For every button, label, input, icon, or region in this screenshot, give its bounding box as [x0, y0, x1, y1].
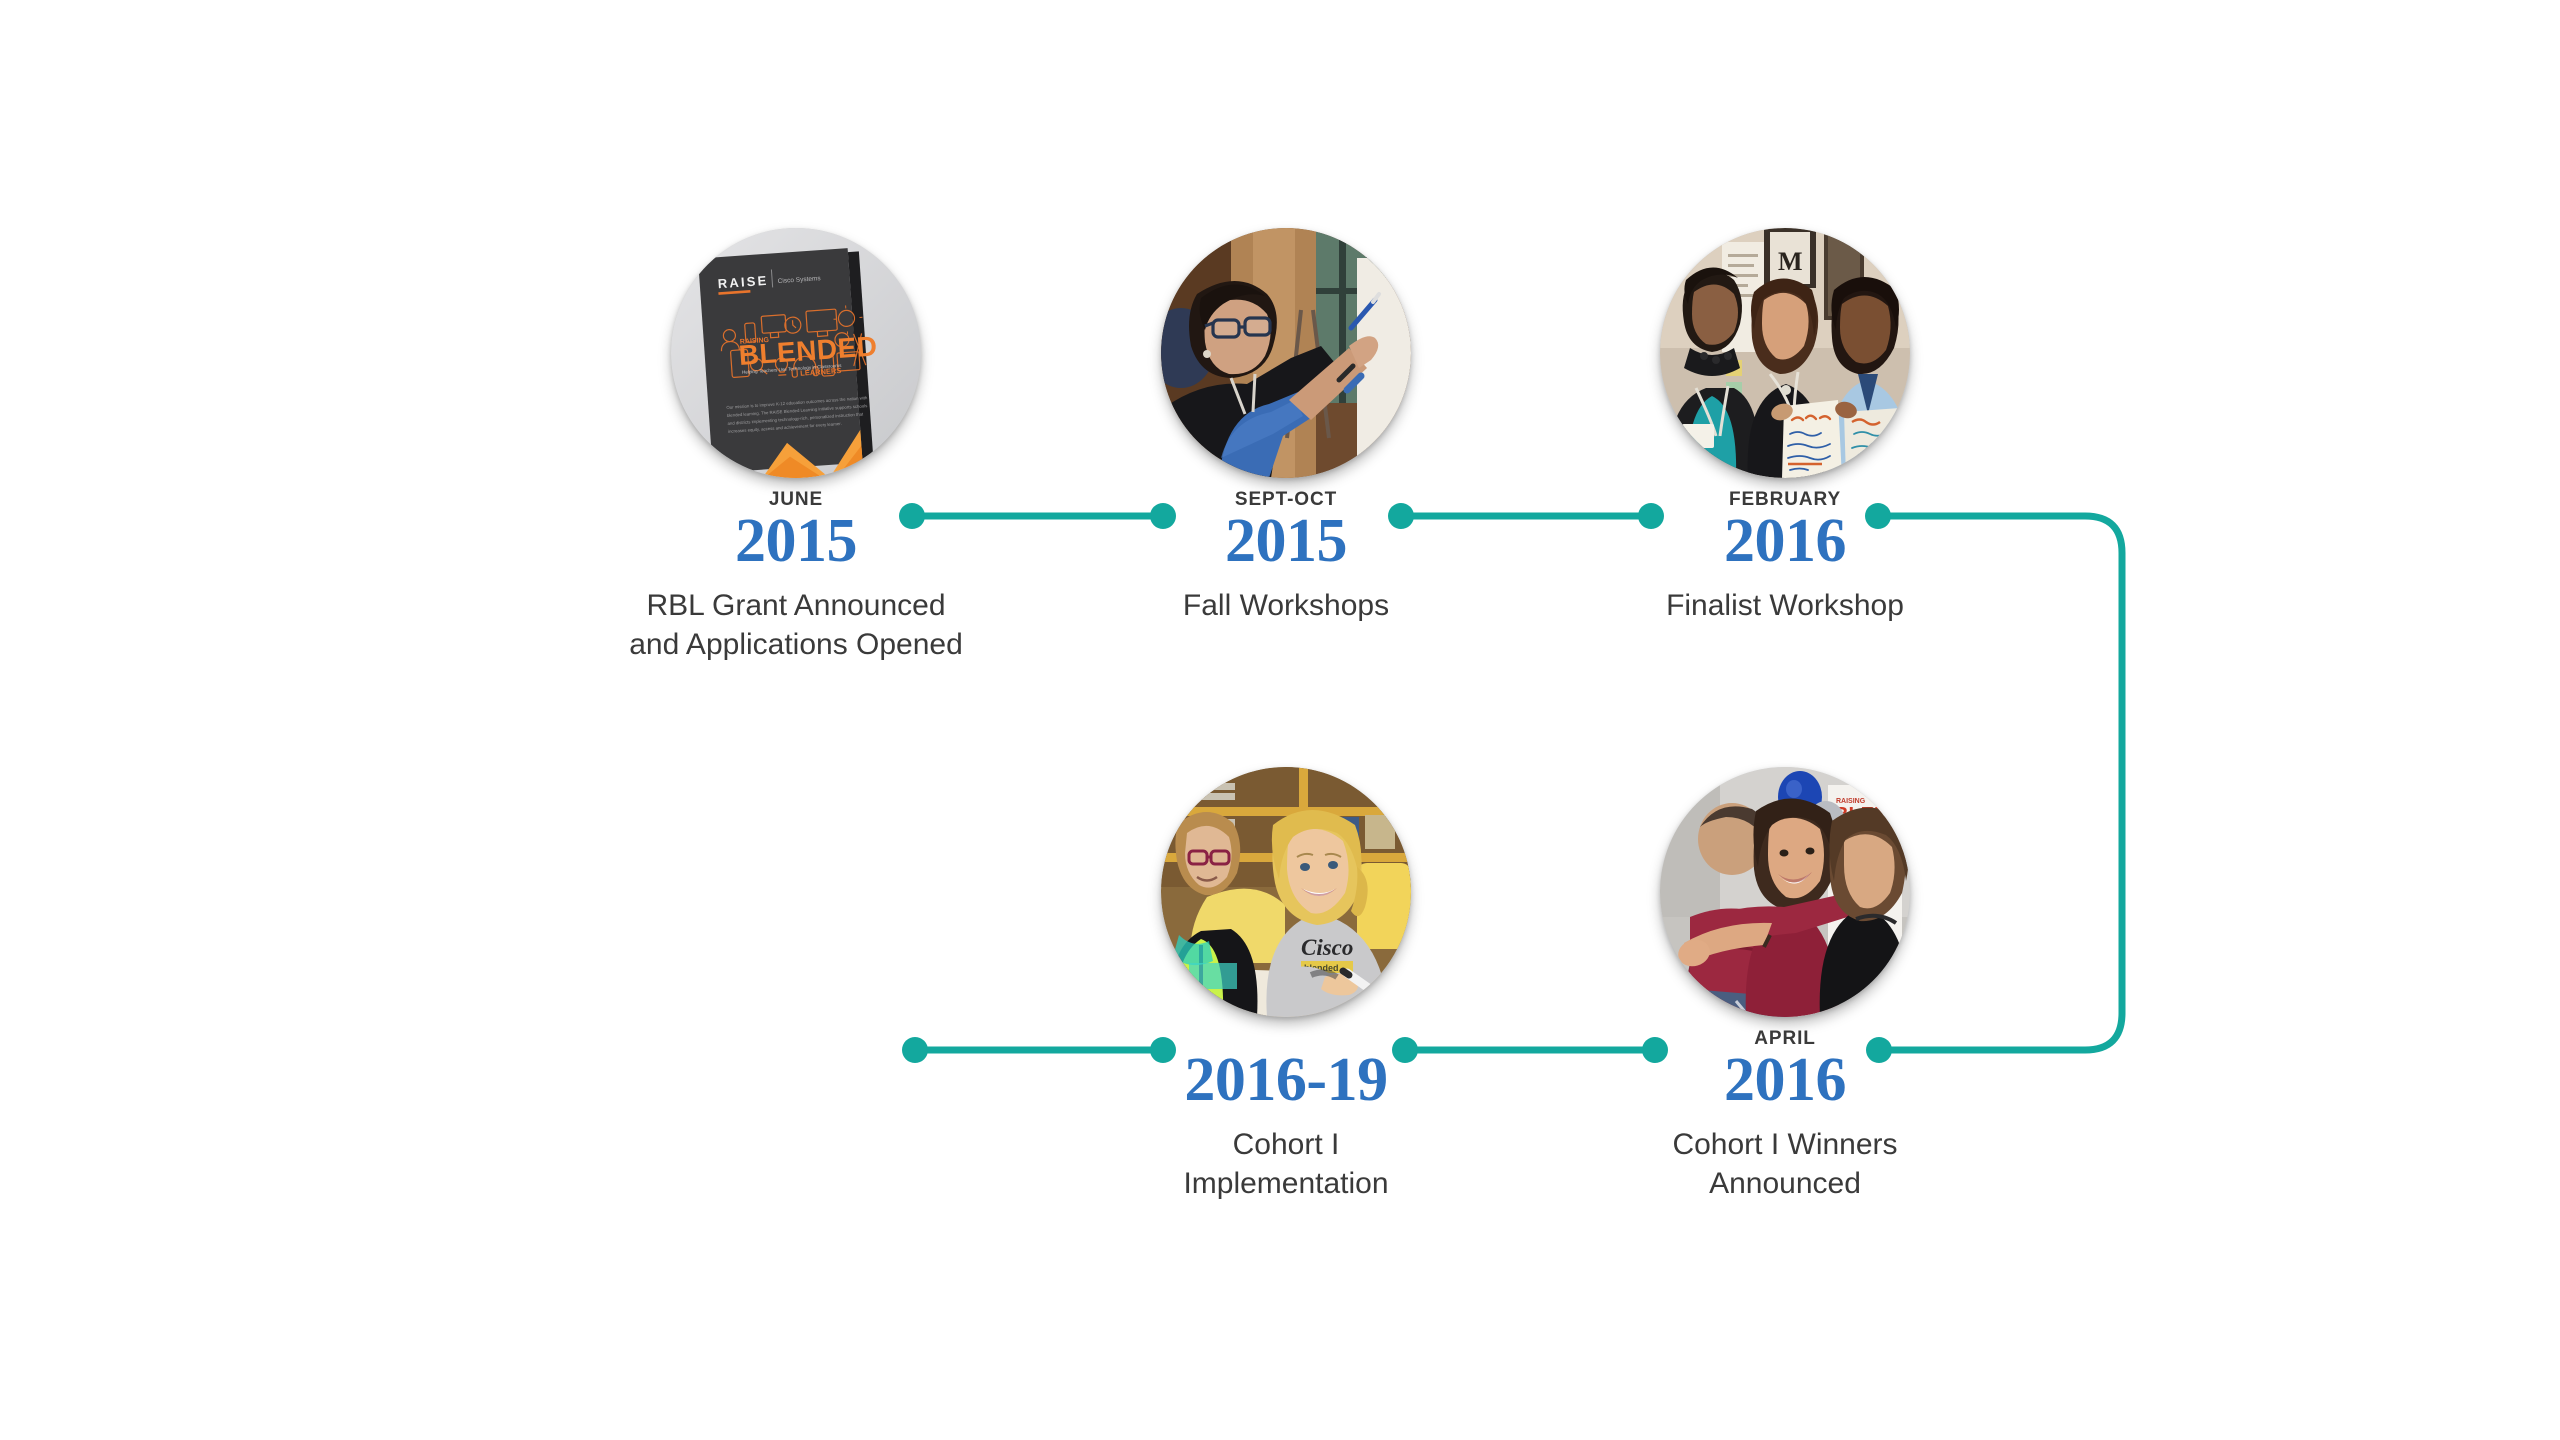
milestone-year: 2015	[1026, 510, 1546, 572]
celebration-hug-photo: RAISING BLEN .ast	[1660, 767, 1910, 1017]
milestone-caption: Cohort I Implementation	[1026, 1125, 1546, 1203]
raise-blended-report-cover-photo: RAISE Cisco Systems	[671, 228, 921, 478]
milestone-year: 2015	[536, 510, 1056, 572]
photo-wrap: Cisco blended	[1161, 767, 1411, 1017]
milestone-fall-workshops[interactable]: SEPT-OCT 2015 Fall Workshops	[1026, 228, 1546, 625]
svg-text:Cisco: Cisco	[1301, 935, 1353, 960]
photo-wrap	[1161, 228, 1411, 478]
milestone-rbl-grant-announced[interactable]: RAISE Cisco Systems	[536, 228, 1056, 664]
students-at-desk-photo: Cisco blended	[1161, 767, 1411, 1017]
milestone-cohort-i-implementation[interactable]: Cisco blended 2016-19 C	[1026, 767, 1546, 1203]
connector-dot	[902, 1037, 928, 1063]
milestone-year: 2016-19	[1026, 1049, 1546, 1111]
milestone-year: 2016	[1525, 1049, 2045, 1111]
milestone-caption: Finalist Workshop	[1525, 586, 2045, 625]
milestone-caption: Cohort I Winners Announced	[1525, 1125, 2045, 1203]
three-participants-holding-poster-photo: M	[1660, 228, 1910, 478]
timeline-connectors	[0, 0, 2560, 1440]
timeline-infographic: RAISE Cisco Systems	[0, 0, 2560, 1440]
milestone-caption: Fall Workshops	[1026, 586, 1546, 625]
photo-wrap: RAISE Cisco Systems	[671, 228, 921, 478]
milestone-caption: RBL Grant Announced and Applications Ope…	[536, 586, 1056, 664]
photo-wrap: M	[1660, 228, 1910, 478]
photo-wrap: RAISING BLEN .ast	[1660, 767, 1910, 1017]
milestone-year: 2016	[1525, 510, 2045, 572]
woman-writing-on-flipchart-photo	[1161, 228, 1411, 478]
milestone-cohort-i-winners-announced[interactable]: RAISING BLEN .ast	[1525, 767, 2045, 1203]
milestone-finalist-workshop[interactable]: M	[1525, 228, 2045, 625]
svg-text:M: M	[1778, 247, 1803, 276]
